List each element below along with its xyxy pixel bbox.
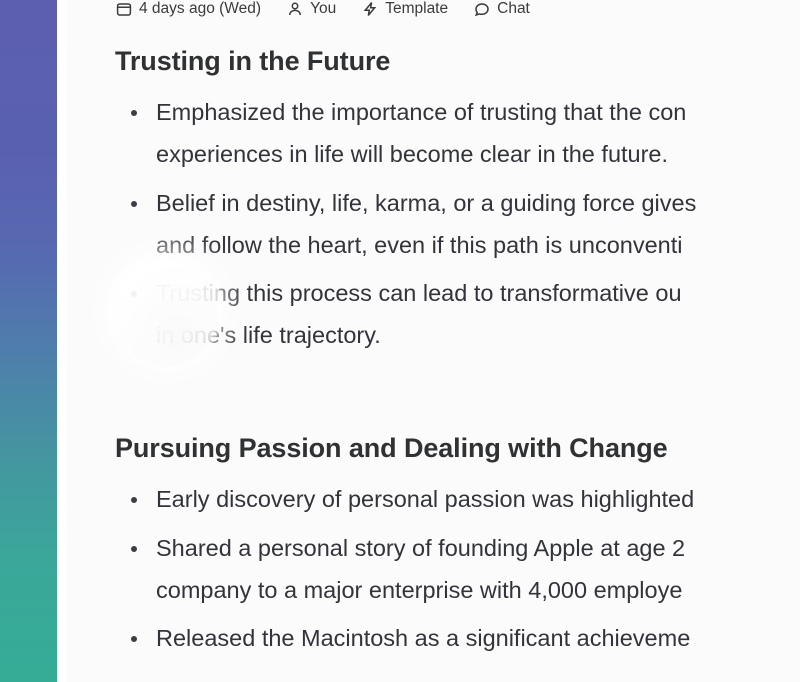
bullet-line: company to a major enterprise with 4,000… — [156, 570, 800, 612]
bullet-line: Belief in destiny, life, karma, or a gui… — [156, 183, 800, 225]
list-item: Trusting this process can lead to transf… — [115, 273, 800, 357]
gradient-sidebar-rail — [0, 0, 57, 682]
list-item: Released the Macintosh as a significant … — [115, 618, 800, 660]
meta-template[interactable]: Template — [362, 1, 448, 17]
chat-icon — [474, 1, 490, 17]
note-meta-bar: 4 days ago (Wed) You Template — [67, 1, 800, 17]
meta-date-label: 4 days ago (Wed) — [139, 1, 261, 17]
section-trusting-in-the-future: Trusting in the Future Emphasized the im… — [115, 44, 800, 357]
meta-author-label: You — [310, 1, 336, 17]
list-item: Emphasized the importance of trusting th… — [115, 92, 800, 176]
bullet-line: Early discovery of personal passion was … — [156, 479, 800, 521]
meta-chat[interactable]: Chat — [474, 1, 530, 17]
note-body: Trusting in the Future Emphasized the im… — [67, 17, 800, 660]
bullet-line: Trusting this process can lead to transf… — [156, 273, 800, 315]
section-heading: Trusting in the Future — [115, 44, 800, 78]
sidebar-seam — [57, 0, 67, 682]
template-icon — [362, 1, 378, 17]
list-item: Belief in destiny, life, karma, or a gui… — [115, 183, 800, 267]
list-item: Shared a personal story of founding Appl… — [115, 528, 800, 612]
note-content-card: 4 days ago (Wed) You Template — [66, 0, 800, 682]
section-heading: Pursuing Passion and Dealing with Change — [115, 431, 800, 465]
bullet-list: Early discovery of personal passion was … — [115, 479, 800, 660]
bullet-line: Shared a personal story of founding Appl… — [156, 528, 800, 570]
calendar-icon — [116, 1, 132, 17]
meta-author[interactable]: You — [287, 1, 336, 17]
bullet-list: Emphasized the importance of trusting th… — [115, 92, 800, 357]
bullet-line: in one's life trajectory. — [156, 315, 800, 357]
list-item: Early discovery of personal passion was … — [115, 479, 800, 521]
bullet-line: Emphasized the importance of trusting th… — [156, 92, 800, 134]
meta-date[interactable]: 4 days ago (Wed) — [116, 1, 261, 17]
bullet-line: Released the Macintosh as a significant … — [156, 618, 800, 660]
meta-template-label: Template — [385, 1, 448, 17]
person-icon — [287, 1, 303, 17]
meta-chat-label: Chat — [497, 1, 530, 17]
bullet-line: and follow the heart, even if this path … — [156, 225, 800, 267]
section-pursuing-passion-and-dealing-with-change: Pursuing Passion and Dealing with Change… — [115, 431, 800, 660]
app-root: 4 days ago (Wed) You Template — [0, 0, 800, 682]
bullet-line: experiences in life will become clear in… — [156, 134, 800, 176]
